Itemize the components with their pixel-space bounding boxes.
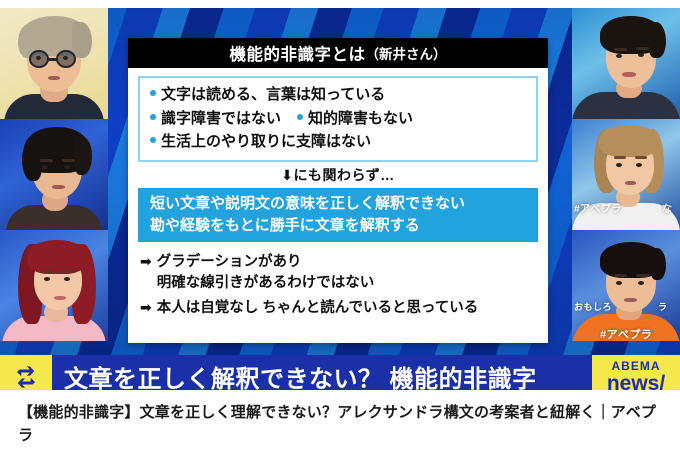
emphasis-box: 短い文章や説明文の意味を正しく解釈できない 勘や経験をもとに勝手に文章を解釈する	[138, 188, 538, 242]
participant-tile-red-hair[interactable]	[0, 230, 108, 341]
abema-news-logo: ABEMA news/	[592, 355, 680, 390]
fact-item: 知的障害もない	[297, 107, 413, 131]
watermark-omoshiro: おもしろ	[574, 300, 612, 313]
fact-item: 文字は読める、言葉は知っている	[150, 83, 385, 107]
down-arrow-icon: ⬇	[281, 167, 293, 183]
participant-tile-suit-man[interactable]	[572, 8, 680, 119]
right-arrow-icon: ➡	[140, 252, 152, 272]
logo-news-text: news/	[607, 373, 665, 391]
participant-tile-short-black-hair[interactable]	[0, 119, 108, 230]
watermark-na: な	[662, 200, 673, 215]
slide-header: 機能的非識字とは（新井さん）	[128, 38, 548, 68]
bullet-dot-icon	[297, 114, 303, 120]
fact-item: 生活上のやり取りに支障はない	[150, 130, 371, 154]
however-text: にも関わらず…	[294, 167, 395, 183]
participant-column-left	[0, 8, 108, 342]
slide-body: 文字は読める、言葉は知っている 識字障害ではない 知的障害もない	[128, 68, 548, 343]
slide-title-source: （新井さん）	[366, 43, 447, 63]
banner-title: 文章を正しく解釈できない？ 機能的非識字	[52, 355, 592, 390]
fact-item: 識字障害ではない	[150, 107, 281, 131]
participant-tile-orange-hoodie-man[interactable]	[572, 230, 680, 341]
logo-abema-text: ABEMA	[612, 360, 661, 372]
caption-text: 【機能的非識字】文章を正しく理解できない？アレクサンドラ構文の考案者と紐解く｜ア…	[18, 402, 662, 448]
emphasis-line: 勘や経験をもとに勝手に文章を解釈する	[150, 215, 528, 237]
video-player-frame[interactable]: #アベプラ な おもしろ ラ #アベプラ 機能的非識字とは（新井さん） 文字は読…	[0, 8, 680, 390]
note-text: グラデーションがあり 明確な線引きがあるわけではない	[157, 252, 375, 293]
note-item: ➡ 本人は自覚なし ちゃんと読んでいると思っている	[140, 298, 538, 319]
bullet-dot-icon	[150, 137, 156, 143]
watermark-abepura-bottom: #アベプラ	[600, 326, 652, 342]
right-arrow-icon: ➡	[140, 298, 152, 318]
watermark-abepura-mid: #アベプラ	[574, 200, 622, 215]
facts-box: 文字は読める、言葉は知っている 識字障害ではない 知的障害もない	[138, 76, 538, 162]
slide-title: 機能的非識字とは	[230, 41, 366, 65]
fact-text: 識字障害ではない	[161, 107, 281, 131]
notes-list: ➡ グラデーションがあり 明確な線引きがあるわけではない ➡ 本人は自覚なし ち…	[138, 252, 538, 319]
however-line: ⬇にも関わらず…	[138, 165, 538, 185]
bullet-dot-icon	[150, 90, 156, 96]
emphasis-line: 短い文章や説明文の意味を正しく解釈できない	[150, 193, 528, 215]
fact-text: 生活上のやり取りに支障はない	[161, 130, 371, 154]
note-item: ➡ グラデーションがあり 明確な線引きがあるわけではない	[140, 252, 538, 293]
participant-tile-glasses-blond[interactable]	[0, 8, 108, 119]
fact-row: 生活上のやり取りに支障はない	[150, 130, 528, 154]
watermark-ra: ラ	[658, 300, 668, 313]
video-caption: 【機能的非識字】文章を正しく理解できない？アレクサンドラ構文の考案者と紐解く｜ア…	[0, 390, 680, 461]
fact-row: 識字障害ではない 知的障害もない	[150, 107, 528, 131]
banner-title-text: 文章を正しく解釈できない？ 機能的非識字	[64, 359, 537, 390]
cycle-arrows-icon	[0, 355, 52, 390]
lower-third-banner: 文章を正しく解釈できない？ 機能的非識字 ABEMA news/	[0, 355, 680, 390]
note-text: 本人は自覚なし ちゃんと読んでいると思っている	[157, 298, 479, 319]
bullet-dot-icon	[150, 114, 156, 120]
fact-text: 知的障害もない	[308, 107, 413, 131]
fact-row: 文字は読める、言葉は知っている	[150, 83, 528, 107]
info-slide: 機能的非識字とは（新井さん） 文字は読める、言葉は知っている 識字障害ではない	[128, 38, 548, 343]
page-root: #アベプラ な おもしろ ラ #アベプラ 機能的非識字とは（新井さん） 文字は読…	[0, 0, 680, 461]
fact-text: 文字は読める、言葉は知っている	[161, 83, 385, 107]
participant-column-right	[572, 8, 680, 342]
